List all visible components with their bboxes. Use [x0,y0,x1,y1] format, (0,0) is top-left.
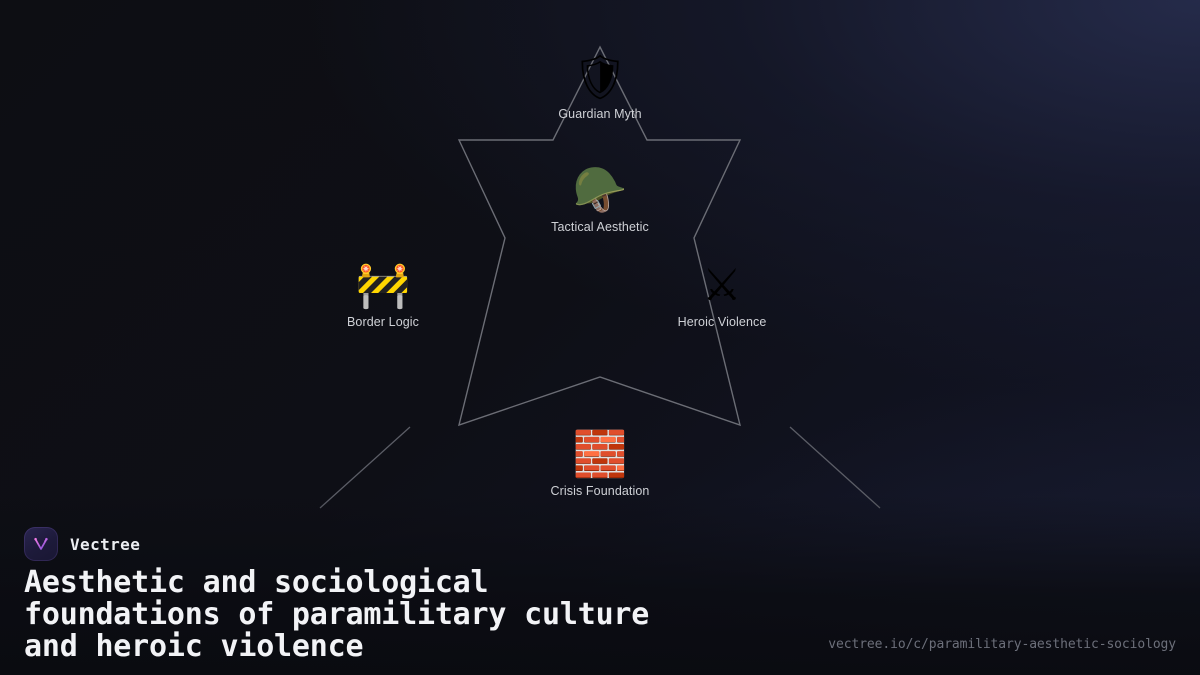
crossed-swords-icon: ⚔ [642,261,802,311]
graph-node-tactical-aesthetic[interactable]: 🪖 Tactical Aesthetic [520,166,680,234]
page-title: Aesthetic and sociological foundations o… [24,567,824,663]
graph-canvas: 🛡 Guardian Myth 🪖 Tactical Aesthetic 🚧 B… [0,0,1200,675]
page-title-line-2: foundations of paramilitary culture [24,599,824,631]
node-label: Guardian Myth [520,107,680,121]
construction-barrier-icon: 🚧 [303,261,463,311]
vectree-logo-icon [24,527,58,561]
graph-node-crisis-foundation[interactable]: 🧱 Crisis Foundation [520,430,680,498]
graph-node-heroic-violence[interactable]: ⚔ Heroic Violence [642,261,802,329]
graph-node-guardian-myth[interactable]: 🛡 Guardian Myth [520,53,680,121]
footer-overlay: Vectree Aesthetic and sociological found… [0,495,1200,675]
page-title-line-3: and heroic violence [24,631,824,663]
military-helmet-icon: 🪖 [520,166,680,216]
shield-icon: 🛡 [520,53,680,103]
brand[interactable]: Vectree [24,527,140,561]
node-label: Heroic Violence [642,315,802,329]
source-url[interactable]: vectree.io/c/paramilitary-aesthetic-soci… [828,637,1176,652]
brand-name: Vectree [70,535,140,554]
page-title-line-1: Aesthetic and sociological [24,567,824,599]
graph-node-border-logic[interactable]: 🚧 Border Logic [303,261,463,329]
node-label: Border Logic [303,315,463,329]
node-label: Tactical Aesthetic [520,220,680,234]
brick-wall-icon: 🧱 [520,430,680,480]
